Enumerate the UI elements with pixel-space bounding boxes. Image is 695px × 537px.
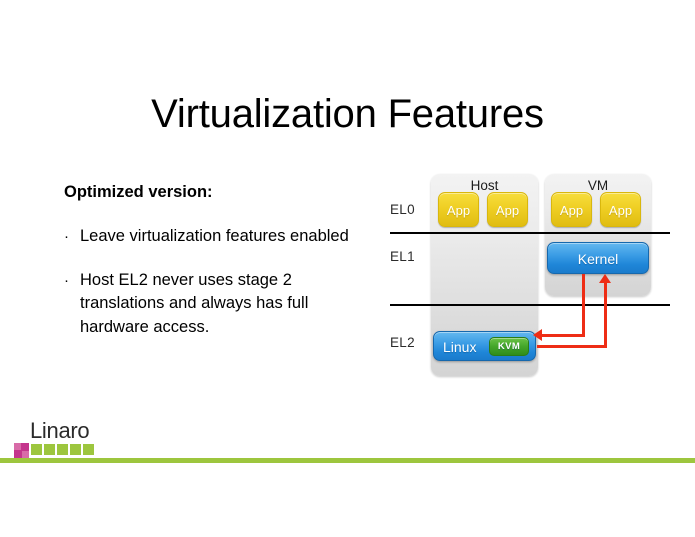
host-linux-box: Linux KVM: [433, 331, 536, 361]
logo-square-green-5: [83, 444, 94, 455]
el1-el2-divider: [390, 304, 670, 306]
arrow-kvm-to-kernel-horizontal: [537, 345, 607, 348]
vm-kernel-box: Kernel: [547, 242, 649, 274]
vm-app-box-2: App: [600, 192, 641, 227]
list-item-label: Leave virtualization features enabled: [80, 225, 349, 249]
logo-square-magenta-light-2: [22, 451, 29, 458]
exception-level-diagram: Host VM EL0 EL1 EL2 App App App App Kern…: [390, 168, 670, 380]
el-label-el1: EL1: [390, 249, 426, 264]
host-app-box-2: App: [487, 192, 528, 227]
arrow-kvm-to-kernel-vertical: [604, 282, 607, 348]
logo-square-magenta-2: [14, 450, 22, 458]
arrow-kvm-to-kernel-head-icon: [599, 274, 611, 283]
logo-square-green-4: [70, 444, 81, 455]
vm-app-box-1: App: [551, 192, 592, 227]
el0-el1-divider: [390, 232, 670, 234]
footer-rule: [0, 458, 695, 463]
lead-heading: Optimized version:: [64, 182, 364, 203]
vm-column-title: VM: [545, 178, 651, 193]
arrow-kernel-to-kvm-head-icon: [533, 329, 542, 341]
page-title: Virtualization Features: [0, 92, 695, 136]
body-text-column: Optimized version: · Leave virtualizatio…: [64, 182, 364, 359]
list-item: · Leave virtualization features enabled: [64, 225, 364, 249]
linaro-logo: Linaro: [14, 419, 109, 455]
bullet-marker-icon: ·: [64, 225, 80, 248]
el-label-el2: EL2: [390, 335, 426, 350]
logo-square-green-2: [44, 444, 55, 455]
list-item: · Host EL2 never uses stage 2 translatio…: [64, 269, 364, 340]
logo-square-green-1: [31, 444, 42, 455]
logo-square-green-3: [57, 444, 68, 455]
kvm-badge: KVM: [489, 337, 529, 356]
logo-square-magenta-light-1: [14, 443, 21, 450]
el-label-el0: EL0: [390, 202, 426, 217]
host-column-title: Host: [431, 178, 538, 193]
arrow-kernel-to-kvm-vertical: [582, 274, 585, 337]
bullet-marker-icon: ·: [64, 269, 80, 292]
list-item-label: Host EL2 never uses stage 2 translations…: [80, 269, 364, 340]
arrow-kernel-to-kvm-horizontal: [542, 334, 585, 337]
host-app-box-1: App: [438, 192, 479, 227]
linux-label: Linux: [443, 332, 476, 362]
logo-square-magenta-1: [21, 443, 29, 451]
slide-canvas: Virtualization Features Optimized versio…: [0, 0, 695, 537]
logo-wordmark: Linaro: [30, 419, 89, 443]
